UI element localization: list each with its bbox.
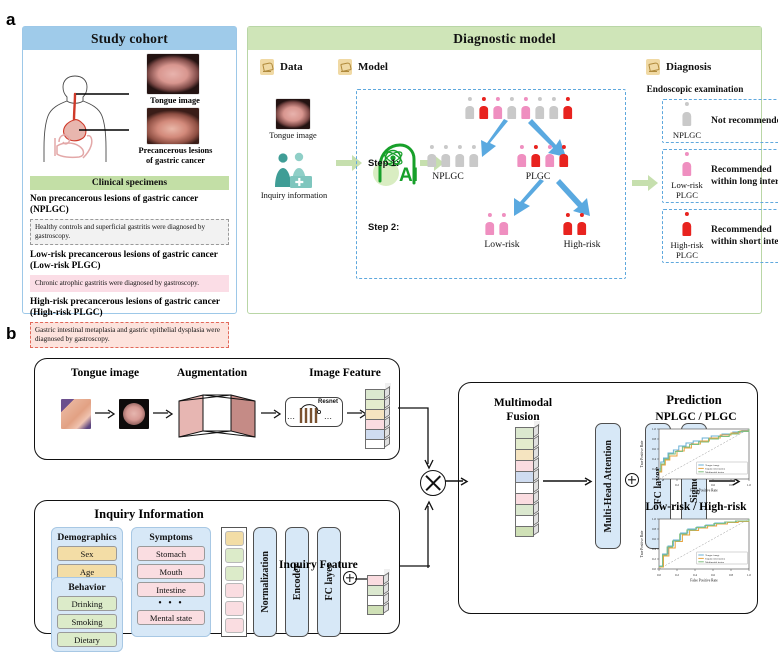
svg-text:0.8: 0.8 <box>729 483 733 487</box>
feature-segment <box>367 575 384 585</box>
feature-segment <box>365 429 385 439</box>
svg-text:1.0: 1.0 <box>652 517 656 521</box>
behavior-item-drinking[interactable]: Drinking <box>57 596 117 611</box>
inquiry-fc-layer-block: FC layer <box>317 527 341 637</box>
multi-head-attention-block: Multi-Head Attention <box>595 423 621 549</box>
roc-chart-title-1: Low-risk / High-risk <box>629 501 763 513</box>
resnet-network-icon: … … <box>287 403 341 425</box>
feature-segment <box>365 419 385 429</box>
panel-b-letter: b <box>6 324 16 344</box>
svg-text:0.2: 0.2 <box>652 467 656 471</box>
svg-text:Multimodal fusion: Multimodal fusion <box>705 561 724 564</box>
specimen-note: Chronic atrophic gastritis were diagnose… <box>30 275 229 292</box>
arrow-model-to-diagnosis <box>632 175 658 191</box>
feature-segment <box>515 515 534 526</box>
person-icon-gray <box>468 145 479 167</box>
feature-segment <box>515 471 534 482</box>
feature-segment <box>367 595 384 605</box>
inquiry-vector-column <box>221 527 247 637</box>
normalization-block: Normalization <box>253 527 277 637</box>
add-operator-icon <box>625 473 639 487</box>
person-icon-pink <box>498 213 509 235</box>
feature-segment <box>365 399 385 409</box>
feature-segment <box>515 493 534 504</box>
arrow-right-icon <box>261 409 283 419</box>
feature-segment <box>365 389 385 399</box>
svg-text:False Positive Rate: False Positive Rate <box>690 579 718 583</box>
cropped-tongue-photo <box>119 399 149 429</box>
diagnosis-caption-line2: PLGC <box>663 191 711 201</box>
diagnosis-text-line2: within long intervals <box>711 176 778 188</box>
multimodal-fusion-title-line2: Fusion <box>473 411 573 423</box>
step1-group-plgc <box>516 145 569 167</box>
step-2-label: Step 2: <box>368 221 399 232</box>
behavior-panel: Behavior Drinking Smoking Dietary <box>51 577 123 652</box>
step1-caption-nplgc: NPLGC <box>408 171 488 182</box>
demographics-title: Demographics <box>57 532 117 543</box>
person-icon-pink <box>484 213 495 235</box>
diagnosis-text: Recommended within long intervals <box>711 164 778 187</box>
panel-b: Tongue image Augmentation Image Feature <box>22 352 762 640</box>
normalization-label: Normalization <box>260 551 271 613</box>
behavior-title: Behavior <box>57 582 117 593</box>
image-branch-header-tongue: Tongue image <box>57 367 153 379</box>
svg-text:1.0: 1.0 <box>747 573 751 577</box>
panel-a: Study cohort <box>22 26 762 314</box>
section-label-diagnosis: Diagnosis <box>646 59 711 75</box>
svg-text:0.8: 0.8 <box>729 573 733 577</box>
section-label-text: Model <box>358 61 388 73</box>
behavior-item-smoking[interactable]: Smoking <box>57 614 117 629</box>
inquiry-vector-cell <box>225 566 244 581</box>
diagnosis-text-line1: Recommended <box>711 224 778 236</box>
svg-text:0.2: 0.2 <box>652 557 656 561</box>
diagnosis-row-low-risk: Low-risk PLGC Recommended within long in… <box>662 149 778 203</box>
step-1-label: Step 1: <box>368 157 399 168</box>
svg-text:…: … <box>324 412 332 421</box>
inquiry-information-title: Inquiry Information <box>59 507 239 522</box>
section-label-data: Data <box>260 59 303 75</box>
symptoms-item-mental-state[interactable]: Mental state <box>137 610 205 625</box>
person-icon-gray <box>454 145 465 167</box>
inquiry-feature-label: Inquiry Feature <box>279 559 399 571</box>
image-branch-box: Tongue image Augmentation Image Feature <box>34 358 400 460</box>
roc-chart-title-0: NPLGC / PLGC <box>637 411 755 423</box>
encoder-block: Encoder <box>285 527 309 637</box>
step2-group-high-risk <box>562 213 587 235</box>
specimen-note: Gastric intestinal metaplasia and gastri… <box>30 322 229 348</box>
person-icon-red <box>478 97 489 119</box>
person-icon-gray <box>506 97 517 119</box>
inquiry-vector-cell <box>225 583 244 598</box>
person-icon-pink <box>544 145 555 167</box>
feature-segment <box>515 504 534 515</box>
svg-text:0.4: 0.4 <box>693 573 697 577</box>
feature-segment <box>515 438 534 449</box>
diagnosis-person-low-risk: Low-risk PLGC <box>663 152 711 201</box>
multi-head-attention-label: Multi-Head Attention <box>603 440 614 533</box>
panel-a-letter: a <box>6 10 15 30</box>
symptoms-item-mouth[interactable]: Mouth <box>137 564 205 579</box>
svg-text:0.4: 0.4 <box>652 457 656 461</box>
svg-text:0.2: 0.2 <box>675 483 679 487</box>
study-cohort-card: Study cohort <box>22 26 237 314</box>
symptoms-title: Symptoms <box>137 532 205 543</box>
svg-text:0.8: 0.8 <box>652 527 656 531</box>
clinical-specimens-section: Clinical specimens Non precancerous lesi… <box>23 170 236 348</box>
diagnosis-text: Not recommended <box>711 115 778 127</box>
tongue-image-caption: Tongue image <box>129 96 221 106</box>
connector-image-to-fusion <box>398 400 444 476</box>
svg-text:0.6: 0.6 <box>652 447 656 451</box>
cohort-person-row <box>464 97 573 119</box>
step2-caption-high-risk: High-risk <box>542 239 622 250</box>
image-feature-stack <box>365 389 385 449</box>
feature-segment <box>367 585 384 595</box>
feature-segment <box>367 605 384 615</box>
inquiry-vector-cell <box>225 601 244 616</box>
diagnosis-text: Recommended within short intervals <box>711 224 778 247</box>
step2-group-low-risk <box>484 213 509 235</box>
svg-text:True Positive Rate: True Positive Rate <box>640 530 644 557</box>
study-cohort-title: Study cohort <box>23 27 236 50</box>
note-pencil-icon <box>646 59 660 75</box>
svg-text:0.0: 0.0 <box>657 483 661 487</box>
person-icon-red <box>562 213 573 235</box>
lesion-image-thumbnail <box>147 108 199 144</box>
person-icon-pink <box>516 145 527 167</box>
diagnosis-row-nplgc: NPLGC Not recommended <box>662 99 778 143</box>
fusion-feature-stack <box>515 427 534 537</box>
inquiry-vector-cell <box>225 618 244 633</box>
prediction-title: Prediction <box>639 393 749 408</box>
specimen-title: Non precancerous lesions of gastric canc… <box>30 194 229 217</box>
image-branch-header-augmentation: Augmentation <box>157 367 267 379</box>
svg-text:0.4: 0.4 <box>652 547 656 551</box>
arrow-into-fusion <box>445 475 471 487</box>
section-label-text: Data <box>280 61 303 73</box>
human-anatomy-illustration <box>29 72 134 164</box>
note-pencil-icon <box>338 59 352 75</box>
arrow-right-icon <box>95 409 117 419</box>
tongue-image-thumbnail <box>147 54 199 94</box>
svg-text:0.0: 0.0 <box>652 477 656 481</box>
inquiry-doctors-icon <box>270 151 318 189</box>
feature-segment <box>365 439 385 449</box>
symptoms-item-intestine[interactable]: Intestine <box>137 582 205 597</box>
specimen-title: High-risk precancerous lesions of gastri… <box>30 297 229 320</box>
person-icon-red <box>558 145 569 167</box>
person-icon-gray <box>548 97 559 119</box>
inquiry-vector-cell <box>225 531 244 546</box>
person-icon-red <box>530 145 541 167</box>
lesion-image-caption-line2: of gastric cancer <box>123 156 228 166</box>
diagnosis-person-nplgc: NPLGC <box>663 102 711 141</box>
section-label-text: Diagnosis <box>666 61 711 73</box>
symptoms-item-stomach[interactable]: Stomach <box>137 546 205 561</box>
svg-text:0.6: 0.6 <box>711 483 715 487</box>
person-icon-red <box>562 97 573 119</box>
feature-segment <box>365 409 385 419</box>
svg-text:0.6: 0.6 <box>652 537 656 541</box>
section-label-model: Model <box>338 59 388 75</box>
specimen-title: Low-risk precancerous lesions of gastric… <box>30 250 229 273</box>
data-input-tongue-label: Tongue image <box>252 131 334 140</box>
svg-text:Multimodal fusion: Multimodal fusion <box>705 471 724 474</box>
clinical-specimens-band: Clinical specimens <box>30 176 229 190</box>
feature-segment <box>515 449 534 460</box>
inquiry-vector-cell <box>225 548 244 563</box>
lesion-image-caption-line1: Precancerous lesions <box>123 146 228 156</box>
fusion-prediction-box: Multimodal Fusion Multi-Head Attention F… <box>458 382 758 614</box>
augmentation-3d-illustration <box>177 393 257 439</box>
inquiry-feature-stack <box>367 575 384 615</box>
data-input-inquiry-label: Inquiry information <box>244 191 344 200</box>
note-pencil-icon <box>260 59 274 75</box>
svg-text:0.2: 0.2 <box>675 573 679 577</box>
data-input-tongue-thumbnail <box>276 99 310 129</box>
behavior-item-dietary[interactable]: Dietary <box>57 632 117 647</box>
connector-inquiry-to-fusion <box>398 490 444 570</box>
inquiry-branch-box: Inquiry Information Demographics Sex Age… <box>34 500 400 634</box>
raw-tongue-photo <box>61 399 91 429</box>
svg-text:0.0: 0.0 <box>652 567 656 571</box>
diagnosis-person-high-risk: High-risk PLGC <box>663 212 711 261</box>
step2-caption-low-risk: Low-risk <box>464 239 540 250</box>
svg-text:0.6: 0.6 <box>711 573 715 577</box>
image-branch-header-feature: Image Feature <box>297 367 393 379</box>
feature-segment <box>515 460 534 471</box>
roc-chart-low-high-risk: 0.00.20.40.60.81.00.00.20.40.60.81.0Fals… <box>639 515 753 583</box>
multimodal-fusion-title-line1: Multimodal <box>473 397 573 409</box>
arrow-fusion-to-attention <box>543 475 595 487</box>
cohort-illustration-area: Tongue image Precancerous lesions of gas… <box>23 50 236 170</box>
symptoms-ellipsis: • • • <box>137 600 205 608</box>
person-icon-red <box>576 213 587 235</box>
diagnosis-text-line2: within short intervals <box>711 236 778 248</box>
svg-text:1.0: 1.0 <box>747 483 751 487</box>
diagnostic-model-card: Diagnostic model Data Model Diagnosis En… <box>247 26 762 314</box>
person-icon-gray <box>464 97 475 119</box>
diagnostic-model-title: Diagnostic model <box>248 27 761 50</box>
feature-segment <box>515 482 534 493</box>
diagnosis-caption: NPLGC <box>663 131 711 141</box>
demographics-panel: Demographics Sex Age <box>51 527 123 584</box>
svg-text:…: … <box>287 412 295 421</box>
feature-segment <box>515 427 534 438</box>
specimen-group-high-risk: High-risk precancerous lesions of gastri… <box>30 297 229 348</box>
endoscopic-examination-label: Endoscopic examination <box>630 85 760 95</box>
svg-text:0.4: 0.4 <box>693 483 697 487</box>
svg-text:False Positive Rate: False Positive Rate <box>690 489 718 493</box>
symptoms-panel: Symptoms Stomach Mouth Intestine • • • M… <box>131 527 211 637</box>
demographics-item-sex[interactable]: Sex <box>57 546 117 561</box>
svg-text:True Positive Rate: True Positive Rate <box>640 440 644 467</box>
specimen-group-low-risk: Low-risk precancerous lesions of gastric… <box>30 250 229 292</box>
person-icon-gray <box>440 145 451 167</box>
person-icon-gray <box>534 97 545 119</box>
arrow-right-icon <box>153 409 175 419</box>
specimen-note: Healthy controls and superficial gastrit… <box>30 219 229 245</box>
step1-group-nplgc <box>426 145 479 167</box>
person-icon-pink <box>492 97 503 119</box>
svg-text:0.0: 0.0 <box>657 573 661 577</box>
svg-text:0.8: 0.8 <box>652 437 656 441</box>
specimen-group-nplgc: Non precancerous lesions of gastric canc… <box>30 194 229 245</box>
roc-chart-nplgc-plgc: 0.00.20.40.60.81.00.00.20.40.60.81.0Fals… <box>639 425 753 493</box>
diagnosis-caption-line2: PLGC <box>663 251 711 261</box>
feature-segment <box>515 526 534 537</box>
diagnosis-row-high-risk: High-risk PLGC Recommended within short … <box>662 209 778 263</box>
person-icon-gray <box>426 145 437 167</box>
svg-text:1.0: 1.0 <box>652 427 656 431</box>
diagnosis-text-line1: Recommended <box>711 164 778 176</box>
person-icon-pink <box>520 97 531 119</box>
